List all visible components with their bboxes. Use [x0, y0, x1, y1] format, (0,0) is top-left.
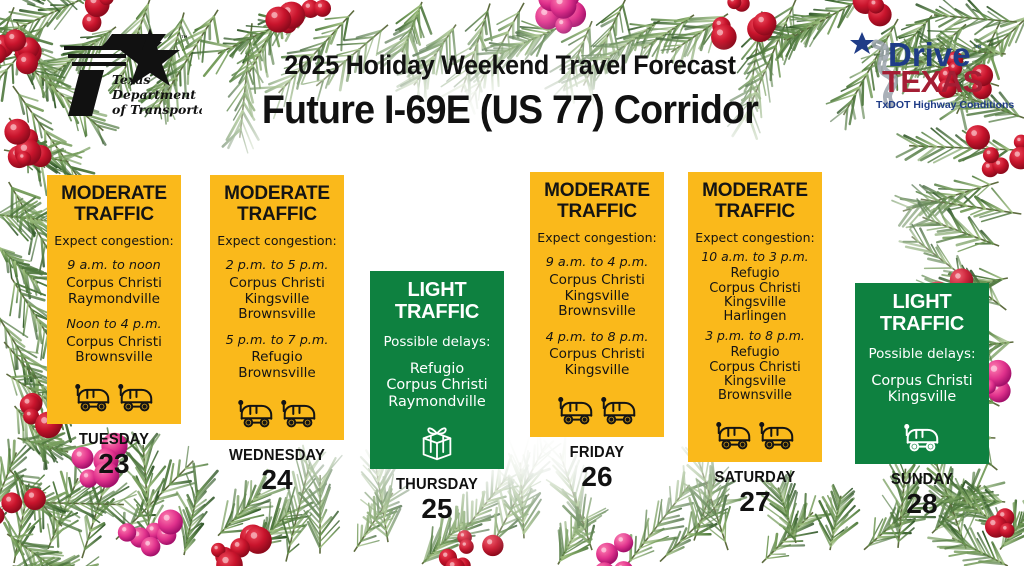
day-label: FRIDAY26: [530, 444, 664, 491]
traffic-level-headline: LIGHT TRAFFIC: [859, 292, 985, 335]
time-slot: 9 a.m. to noonCorpus ChristiRaymondville: [51, 258, 177, 307]
slot-time-range: 3 p.m. to 8 p.m.: [692, 329, 818, 344]
day-name: WEDNESDAY: [213, 447, 340, 465]
slot-city-list: Corpus ChristiKingsvilleBrownsville: [214, 276, 340, 323]
city-name: Raymondville: [374, 394, 500, 411]
card-subhead: Expect congestion:: [692, 231, 818, 245]
day-number: 23: [47, 450, 181, 478]
day-name: SATURDAY: [691, 469, 818, 487]
slot-city-list: Corpus ChristiBrownsville: [51, 335, 177, 367]
slot-city-list: RefugioCorpus ChristiRaymondville: [374, 361, 500, 411]
day-name: FRIDAY: [533, 444, 660, 462]
traffic-card-light: LIGHT TRAFFICPossible delays:Corpus Chri…: [855, 283, 989, 464]
two-cars-icon: [51, 378, 177, 418]
slot-time-range: Noon to 4 p.m.: [51, 317, 177, 332]
slot-city-list: Corpus ChristiKingsville: [534, 347, 660, 379]
city-name: Brownsville: [214, 307, 340, 323]
traffic-card-moderate: MODERATE TRAFFICExpect congestion:9 a.m.…: [47, 175, 181, 424]
city-name: Kingsville: [692, 375, 818, 389]
traffic-card-moderate: MODERATE TRAFFICExpect congestion:2 p.m.…: [210, 175, 344, 440]
city-name: Kingsville: [534, 289, 660, 305]
time-slot: 9 a.m. to 4 p.m.Corpus ChristiKingsville…: [534, 255, 660, 320]
slot-city-list: RefugioCorpus ChristiKingsvilleBrownsvil…: [692, 346, 818, 403]
day-label: THURSDAY25: [370, 476, 504, 523]
day-number: 24: [210, 466, 344, 494]
city-name: Corpus Christi: [534, 273, 660, 289]
day-label: SATURDAY27: [688, 469, 822, 516]
slot-city-list: RefugioCorpus ChristiKingsvilleHarlingen: [692, 267, 818, 324]
day-number: 26: [530, 463, 664, 491]
city-name: Corpus Christi: [859, 373, 985, 390]
city-name: Brownsville: [51, 350, 177, 366]
traffic-level-headline: MODERATE TRAFFIC: [51, 184, 177, 225]
city-name: Brownsville: [214, 366, 340, 382]
time-slot: 5 p.m. to 7 p.m.RefugioBrownsville: [214, 333, 340, 382]
day-name: TUESDAY: [50, 431, 177, 449]
time-slot: 2 p.m. to 5 p.m.Corpus ChristiKingsville…: [214, 258, 340, 323]
city-name: Brownsville: [534, 304, 660, 320]
city-name: Corpus Christi: [534, 347, 660, 363]
day-label: WEDNESDAY24: [210, 447, 344, 494]
card-subhead: Possible delays:: [374, 335, 500, 351]
traffic-level-headline: MODERATE TRAFFIC: [214, 184, 340, 225]
day-number: 28: [855, 490, 989, 518]
city-name: Kingsville: [859, 389, 985, 406]
slot-time-range: 4 p.m. to 8 p.m.: [534, 330, 660, 345]
gift-icon: [374, 423, 500, 463]
traffic-card-moderate: MODERATE TRAFFICExpect congestion:9 a.m.…: [530, 172, 664, 437]
slot-time-range: 10 a.m. to 3 p.m.: [692, 250, 818, 265]
day-column-thursday: LIGHT TRAFFICPossible delays:RefugioCorp…: [370, 271, 504, 523]
day-column-sunday: LIGHT TRAFFICPossible delays:Corpus Chri…: [855, 283, 989, 518]
slot-time-range: 2 p.m. to 5 p.m.: [214, 258, 340, 273]
slot-time-range: 9 a.m. to noon: [51, 258, 177, 273]
city-name: Corpus Christi: [374, 377, 500, 394]
day-label: SUNDAY28: [855, 471, 989, 518]
traffic-card-moderate: MODERATE TRAFFICExpect congestion:10 a.m…: [688, 172, 822, 462]
slot-city-list: Corpus ChristiKingsvilleBrownsville: [534, 273, 660, 320]
city-name: Corpus Christi: [692, 361, 818, 375]
city-name: Corpus Christi: [51, 276, 177, 292]
city-name: Refugio: [692, 346, 818, 360]
two-cars-icon: [692, 416, 818, 456]
city-name: Harlingen: [692, 310, 818, 324]
city-name: Corpus Christi: [51, 335, 177, 351]
traffic-level-headline: LIGHT TRAFFIC: [374, 280, 500, 323]
city-name: Corpus Christi: [692, 282, 818, 296]
slot-city-list: Corpus ChristiRaymondville: [51, 276, 177, 308]
city-name: Kingsville: [692, 296, 818, 310]
time-slot: Corpus ChristiKingsville: [859, 373, 985, 406]
time-slot: 4 p.m. to 8 p.m.Corpus ChristiKingsville: [534, 330, 660, 379]
city-name: Corpus Christi: [214, 276, 340, 292]
day-number: 27: [688, 488, 822, 516]
slot-time-range: 5 p.m. to 7 p.m.: [214, 333, 340, 348]
day-label: TUESDAY23: [47, 431, 181, 478]
city-name: Raymondville: [51, 292, 177, 308]
time-slot: RefugioCorpus ChristiRaymondville: [374, 361, 500, 411]
city-name: Kingsville: [214, 292, 340, 308]
city-name: Refugio: [214, 350, 340, 366]
city-name: Kingsville: [534, 363, 660, 379]
time-slot: Noon to 4 p.m.Corpus ChristiBrownsville: [51, 317, 177, 366]
traffic-level-headline: MODERATE TRAFFIC: [534, 181, 660, 222]
day-column-saturday: MODERATE TRAFFICExpect congestion:10 a.m…: [688, 172, 822, 516]
slot-city-list: RefugioBrownsville: [214, 350, 340, 382]
two-cars-icon: [214, 394, 340, 434]
day-number: 25: [370, 495, 504, 523]
card-subhead: Expect congestion:: [534, 231, 660, 245]
two-cars-icon: [534, 391, 660, 431]
travel-forecast-graphic: ™ Texas Department of Transportation Dri…: [0, 0, 1024, 566]
time-slot: 10 a.m. to 3 p.m.RefugioCorpus ChristiKi…: [692, 250, 818, 324]
day-name: THURSDAY: [373, 476, 500, 494]
traffic-card-light: LIGHT TRAFFICPossible delays:RefugioCorp…: [370, 271, 504, 469]
time-slot: 3 p.m. to 8 p.m.RefugioCorpus ChristiKin…: [692, 329, 818, 403]
card-subhead: Expect congestion:: [214, 234, 340, 248]
card-subhead: Possible delays:: [859, 347, 985, 363]
slot-time-range: 9 a.m. to 4 p.m.: [534, 255, 660, 270]
day-column-friday: MODERATE TRAFFICExpect congestion:9 a.m.…: [530, 172, 664, 491]
slot-city-list: Corpus ChristiKingsville: [859, 373, 985, 406]
traffic-level-headline: MODERATE TRAFFIC: [692, 181, 818, 222]
city-name: Refugio: [374, 361, 500, 378]
forecast-columns: MODERATE TRAFFICExpect congestion:9 a.m.…: [0, 0, 1024, 566]
day-column-tuesday: MODERATE TRAFFICExpect congestion:9 a.m.…: [47, 175, 181, 478]
city-name: Brownsville: [692, 389, 818, 403]
card-subhead: Expect congestion:: [51, 234, 177, 248]
day-name: SUNDAY: [858, 471, 985, 489]
one-car-icon: [859, 418, 985, 458]
day-column-wednesday: MODERATE TRAFFICExpect congestion:2 p.m.…: [210, 175, 344, 494]
city-name: Refugio: [692, 267, 818, 281]
